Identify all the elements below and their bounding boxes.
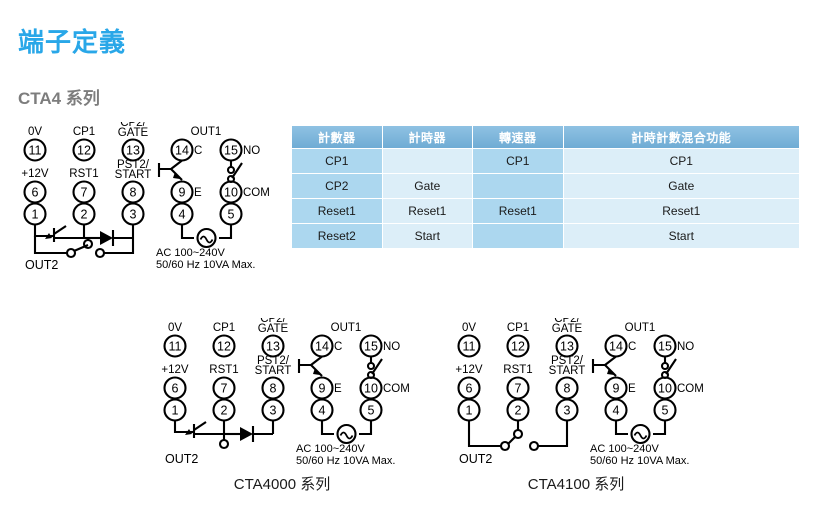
table-cell <box>473 224 563 248</box>
out2-terminal-node <box>220 440 228 448</box>
label-out2: OUT2 <box>165 452 198 466</box>
label-out1: OUT1 <box>625 322 656 334</box>
terminal-number-12: 12 <box>511 340 525 354</box>
terminal-number-9: 9 <box>613 382 620 396</box>
terminal-number-1: 1 <box>172 404 179 418</box>
label-ac-frequency: 50/60 Hz 10VA Max. <box>590 455 689 467</box>
switch-node-right <box>530 442 538 450</box>
terminal-number-15: 15 <box>658 340 672 354</box>
ac-sine-symbol <box>341 433 353 439</box>
wiring-diagram-cta4100: 11 12 13 14 15 6 7 8 9 10 1 2 3 4 5 0V C… <box>442 318 710 468</box>
label-no: NO <box>677 341 694 353</box>
terminal-number-2: 2 <box>81 208 88 222</box>
label-no: NO <box>383 341 400 353</box>
table-header-cell: 計時計數混合功能 <box>564 126 799 148</box>
table-cell: Reset1 <box>564 199 799 223</box>
table-cell: Start <box>383 224 473 248</box>
relay-contact-node-top <box>368 363 374 369</box>
table-cell: Gate <box>564 174 799 198</box>
label-com: COM <box>677 383 704 395</box>
out2-wire-from-3 <box>538 421 567 447</box>
terminal-number-7: 7 <box>221 382 228 396</box>
table-row: CP2 Gate Gate <box>292 174 799 198</box>
terminal-number-12: 12 <box>217 340 231 354</box>
label-0v: 0V <box>462 322 476 334</box>
terminal-number-3: 3 <box>564 404 571 418</box>
table-header-row: 計數器 計時器 轉速器 計時計數混合功能 <box>292 126 799 148</box>
label-gate: GATE <box>118 127 149 139</box>
terminal-number-4: 4 <box>319 404 326 418</box>
transistor-base-line <box>299 357 322 366</box>
terminal-number-11: 11 <box>169 340 182 354</box>
label-12v: +12V <box>455 364 483 376</box>
terminal-number-13: 13 <box>560 340 574 354</box>
label-0v: 0V <box>28 126 42 138</box>
label-12v: +12V <box>161 364 189 376</box>
label-ac-voltage: AC 100~240V <box>590 443 659 455</box>
switch-node-right <box>96 249 104 257</box>
terminal-number-14: 14 <box>175 144 189 158</box>
label-e: E <box>628 383 636 395</box>
table-cell: Reset1 <box>383 199 473 223</box>
terminal-number-13: 13 <box>266 340 280 354</box>
terminal-function-table: 計數器 計時器 轉速器 計時計數混合功能 CP1 CP1 CP1 CP2 Gat… <box>291 125 800 249</box>
label-out1: OUT1 <box>331 322 362 334</box>
label-out2: OUT2 <box>25 258 58 272</box>
table-row: CP1 CP1 CP1 <box>292 149 799 173</box>
label-no: NO <box>243 145 260 157</box>
label-out2: OUT2 <box>459 452 492 466</box>
out2-wire-from-1 <box>175 421 186 433</box>
table-row: Reset2 Start Start <box>292 224 799 248</box>
terminal-number-6: 6 <box>32 186 39 200</box>
label-gate: GATE <box>258 323 289 335</box>
relay-contact-node-top <box>662 363 668 369</box>
ac-wire-right <box>219 225 231 239</box>
terminal-number-6: 6 <box>466 382 473 396</box>
terminal-number-6: 6 <box>172 382 179 396</box>
terminal-number-5: 5 <box>228 208 235 222</box>
terminal-number-9: 9 <box>319 382 326 396</box>
terminal-number-14: 14 <box>315 340 329 354</box>
terminal-number-4: 4 <box>179 208 186 222</box>
table-cell: CP1 <box>564 149 799 173</box>
terminal-number-15: 15 <box>224 144 238 158</box>
label-ac-frequency: 50/60 Hz 10VA Max. <box>156 259 255 271</box>
out2-transistor-collector <box>194 422 206 430</box>
label-cp1: CP1 <box>73 126 95 138</box>
terminal-number-1: 1 <box>466 404 473 418</box>
diode-triangle <box>240 427 253 441</box>
out2-transistor-collector <box>54 226 66 234</box>
label-ac-frequency: 50/60 Hz 10VA Max. <box>296 455 395 467</box>
label-rst1: RST1 <box>209 364 238 376</box>
switch-blade <box>508 437 515 444</box>
section-subtitle: CTA4 系列 <box>18 84 100 109</box>
diode-triangle <box>100 231 113 245</box>
out2-wire-from-1 <box>35 225 46 237</box>
label-rst1: RST1 <box>503 364 532 376</box>
switch-node-left <box>501 442 509 450</box>
label-0v: 0V <box>168 322 182 334</box>
terminal-definition-page: 端子定義 CTA4 系列 計數器 計時器 轉速器 計時計數混合功能 CP1 CP… <box>0 0 828 514</box>
table-cell <box>383 149 473 173</box>
table-cell: CP1 <box>473 149 563 173</box>
ac-wire-left <box>322 421 334 435</box>
terminal-number-3: 3 <box>130 208 137 222</box>
table-header-cell: 計數器 <box>292 126 382 148</box>
wiring-diagram-cta4: 11 12 13 14 15 6 7 8 9 10 1 2 3 4 5 0V C… <box>8 122 276 272</box>
label-c: C <box>194 145 202 157</box>
terminal-number-10: 10 <box>364 382 378 396</box>
label-ac-voltage: AC 100~240V <box>296 443 365 455</box>
diagram-caption-cta4100: CTA4100 系列 <box>442 473 710 494</box>
label-e: E <box>334 383 342 395</box>
terminal-number-2: 2 <box>221 404 228 418</box>
terminal-number-8: 8 <box>564 382 571 396</box>
out2-wire-from-1 <box>469 421 502 447</box>
table-cell <box>473 174 563 198</box>
terminal-number-11: 11 <box>29 144 42 158</box>
label-ac-voltage: AC 100~240V <box>156 247 225 259</box>
transistor-base-line <box>159 161 182 170</box>
terminal-number-3: 3 <box>270 404 277 418</box>
terminal-number-4: 4 <box>613 404 620 418</box>
ac-sine-symbol <box>201 237 213 243</box>
table-cell: Reset1 <box>473 199 563 223</box>
switch-pivot-node <box>84 240 92 248</box>
label-cp1: CP1 <box>213 322 235 334</box>
ac-wire-left <box>182 225 194 239</box>
label-12v: +12V <box>21 168 49 180</box>
label-cp1: CP1 <box>507 322 529 334</box>
table-header-cell: 轉速器 <box>473 126 563 148</box>
terminal-number-11: 11 <box>463 340 476 354</box>
terminal-number-5: 5 <box>368 404 375 418</box>
wiring-diagram-svg: 11 12 13 14 15 6 7 8 9 10 1 2 3 4 5 0V C… <box>148 318 416 468</box>
label-gate: GATE <box>552 323 583 335</box>
wiring-diagram-svg: 11 12 13 14 15 6 7 8 9 10 1 2 3 4 5 0V C… <box>8 122 276 272</box>
terminal-number-7: 7 <box>515 382 522 396</box>
label-start: START <box>115 169 152 181</box>
diagram-caption-cta4000: CTA4000 系列 <box>148 473 416 494</box>
terminal-number-15: 15 <box>364 340 378 354</box>
ac-wire-left <box>616 421 628 435</box>
terminal-number-8: 8 <box>270 382 277 396</box>
label-start: START <box>255 365 292 377</box>
terminal-number-10: 10 <box>658 382 672 396</box>
label-c: C <box>334 341 342 353</box>
wiring-diagram-svg: 11 12 13 14 15 6 7 8 9 10 1 2 3 4 5 0V C… <box>442 318 710 468</box>
terminal-number-1: 1 <box>32 208 39 222</box>
terminal-number-10: 10 <box>224 186 238 200</box>
table-cell: Reset1 <box>292 199 382 223</box>
relay-contact-node-top <box>228 167 234 173</box>
terminal-number-14: 14 <box>609 340 623 354</box>
relay-contact-node-bottom <box>228 176 234 182</box>
relay-contact-node-bottom <box>662 372 668 378</box>
label-e: E <box>194 187 202 199</box>
terminal-number-2: 2 <box>515 404 522 418</box>
table-row: Reset1 Reset1 Reset1 Reset1 <box>292 199 799 223</box>
ac-sine-symbol <box>635 433 647 439</box>
table-cell: Gate <box>383 174 473 198</box>
switch-pivot-node <box>514 430 522 438</box>
ac-wire-right <box>653 421 665 435</box>
table-cell: Start <box>564 224 799 248</box>
table-cell: CP2 <box>292 174 382 198</box>
table-header-cell: 計時器 <box>383 126 473 148</box>
ac-wire-right <box>359 421 371 435</box>
label-c: C <box>628 341 636 353</box>
terminal-number-13: 13 <box>126 144 140 158</box>
terminal-number-12: 12 <box>77 144 91 158</box>
terminal-number-9: 9 <box>179 186 186 200</box>
table-cell: Reset2 <box>292 224 382 248</box>
terminal-number-5: 5 <box>662 404 669 418</box>
label-com: COM <box>383 383 410 395</box>
relay-contact-node-bottom <box>368 372 374 378</box>
table-cell: CP1 <box>292 149 382 173</box>
label-rst1: RST1 <box>69 168 98 180</box>
page-title: 端子定義 <box>18 22 126 59</box>
wiring-diagram-cta4000: 11 12 13 14 15 6 7 8 9 10 1 2 3 4 5 0V C… <box>148 318 416 468</box>
label-start: START <box>549 365 586 377</box>
terminal-number-7: 7 <box>81 186 88 200</box>
terminal-number-8: 8 <box>130 186 137 200</box>
transistor-base-line <box>593 357 616 366</box>
label-com: COM <box>243 187 270 199</box>
label-out1: OUT1 <box>191 126 222 138</box>
